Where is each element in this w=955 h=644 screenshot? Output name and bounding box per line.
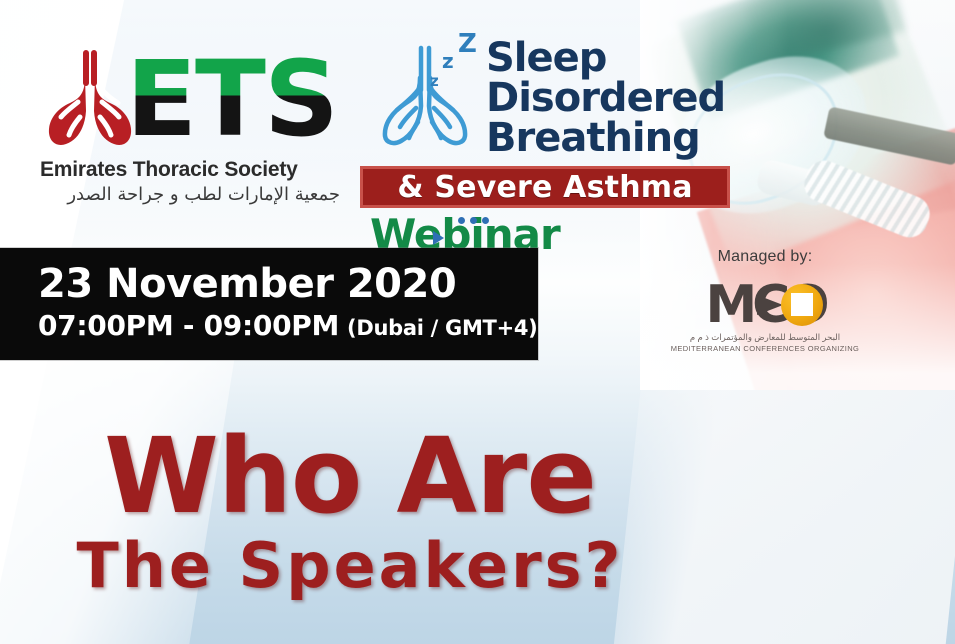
webinar-dot-1-icon: [458, 217, 465, 224]
schedule-bar: 23 November 2020 07:00PM - 09:00PM (Duba…: [0, 248, 538, 360]
ets-name-ar: جمعية الإمارات لطب و جراحة الصدر: [40, 184, 340, 205]
event-title-block: z z Z Sleep Disordered Breathing & Sever…: [370, 22, 750, 158]
event-title-line-3: Breathing: [486, 118, 725, 158]
svg-text:Z: Z: [458, 30, 477, 59]
mco-arrow-icon: [757, 295, 783, 315]
ets-acronym: ETS: [126, 47, 337, 151]
event-time-row: 07:00PM - 09:00PM (Dubai / GMT+4): [38, 310, 537, 344]
headline-line-2: The Speakers?: [0, 534, 700, 598]
event-title-lines: Sleep Disordered Breathing: [486, 38, 725, 158]
headline-block: Who Are The Speakers?: [0, 424, 700, 598]
event-title-line-2: Disordered: [486, 78, 725, 118]
blue-lungs-sleep-icon: z z Z: [370, 30, 482, 148]
ets-acronym-text: ETS: [126, 38, 337, 160]
ets-name-en: Emirates Thoracic Society: [40, 158, 340, 182]
svg-text:z: z: [442, 49, 454, 73]
ets-logo: ETS Emirates Thoracic Society جمعية الإم…: [40, 44, 340, 205]
event-time: 07:00PM - 09:00PM: [38, 310, 339, 342]
headline-line-1: Who Are: [0, 424, 700, 528]
svg-text:z: z: [430, 72, 439, 90]
mco-logo: MCO البحر المتوسط للمعارض والمؤتمرات ذ م…: [660, 282, 870, 360]
event-date: 23 November 2020: [38, 262, 456, 306]
severe-asthma-banner-text: & Severe Asthma: [397, 170, 692, 205]
mco-square-icon: [791, 293, 813, 316]
play-triangle-icon: [433, 231, 444, 245]
mco-tagline-en: MEDITERRANEAN CONFERENCES ORGANIZING: [660, 344, 870, 353]
red-lungs-icon: [40, 47, 140, 151]
managed-by-label: Managed by:: [660, 248, 870, 266]
webinar-dot-3-icon: [482, 217, 489, 224]
webinar-dot-2-icon: [470, 217, 477, 224]
webinar-slide: ETS Emirates Thoracic Society جمعية الإم…: [0, 0, 955, 644]
event-timezone: (Dubai / GMT+4): [347, 312, 537, 344]
managed-by-block: Managed by: MCO البحر المتوسط للمعارض وا…: [660, 248, 870, 360]
severe-asthma-banner: & Severe Asthma: [360, 166, 730, 208]
event-title-line-1: Sleep: [486, 38, 725, 78]
